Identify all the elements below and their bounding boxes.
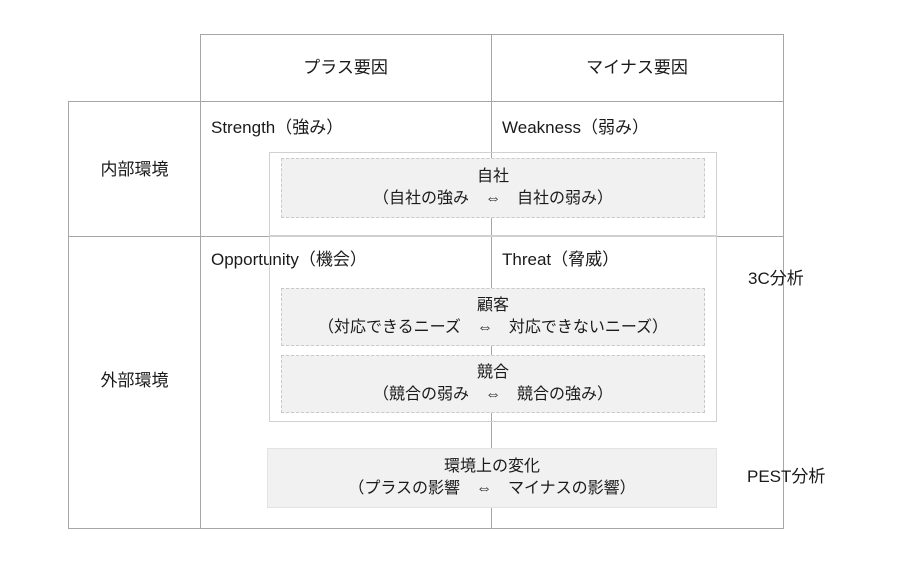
quadrant-label-strength: Strength（強み） [211,117,343,139]
framework-box-kokyaku-subtitle: （対応できるニーズ ⇔ 対応できないニーズ） [318,317,668,339]
quadrant-label-weakness: Weakness（弱み） [502,117,649,139]
framework-box-kyogo-title: 競合 [477,362,509,384]
column-header-minus: マイナス要因 [491,57,783,79]
grid-line-rowhead-divider [200,34,201,529]
row-header-internal: 内部環境 [68,159,201,181]
grid-line-rowhead-top [68,101,201,102]
row-header-external: 外部環境 [68,370,201,392]
framework-box-kokyaku[interactable]: 顧客 （対応できるニーズ ⇔ 対応できないニーズ） [281,288,705,346]
framework-box-kankyo-title: 環境上の変化 [444,456,540,478]
framework-box-kyogo[interactable]: 競合 （競合の弱み ⇔ 競合の強み） [281,355,705,413]
framework-box-kokyaku-title: 顧客 [477,295,509,317]
framework-box-kankyo-subtitle: （プラスの影響 ⇔ マイナスの影響） [348,478,635,500]
side-label-3c-analysis: 3C分析 [748,268,804,290]
side-label-pest-analysis: PEST分析 [747,466,825,488]
framework-box-jisha[interactable]: 自社 （自社の強み ⇔ 自社の弱み） [281,158,705,218]
column-header-plus: プラス要因 [200,57,491,79]
swot-diagram-canvas: プラス要因 マイナス要因 内部環境 外部環境 Strength（強み） Weak… [0,0,917,576]
framework-box-jisha-subtitle: （自社の強み ⇔ 自社の弱み） [373,188,613,210]
framework-box-kankyo[interactable]: 環境上の変化 （プラスの影響 ⇔ マイナスの影響） [267,448,717,508]
grid-line-table-bottom [68,528,783,529]
framework-box-jisha-title: 自社 [477,166,509,188]
framework-box-kyogo-subtitle: （競合の弱み ⇔ 競合の強み） [373,384,613,406]
